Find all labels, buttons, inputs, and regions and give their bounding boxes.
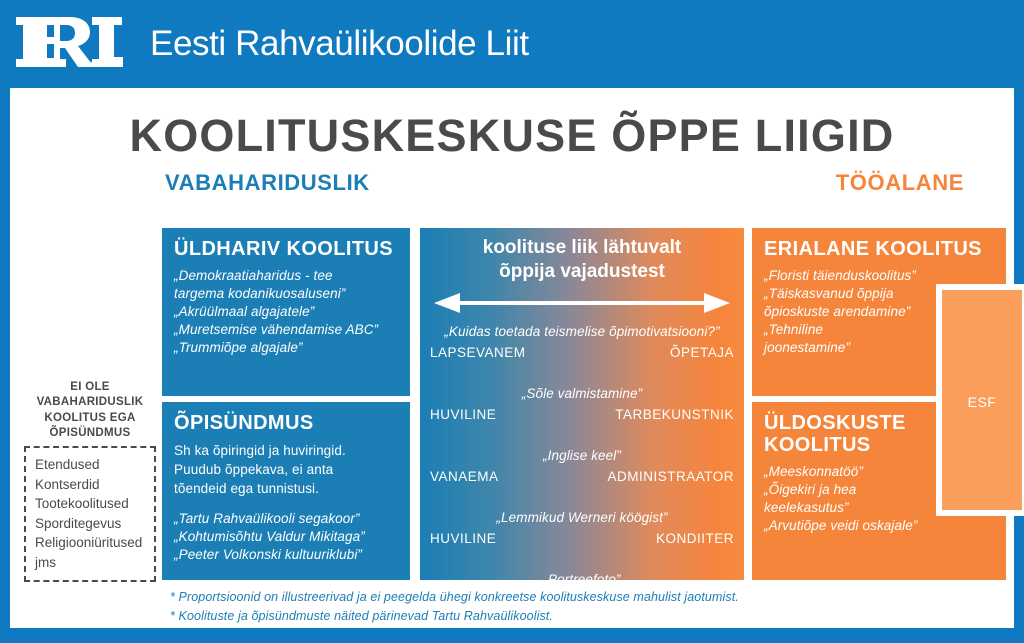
row-right-role: ADMINISTRAATOR — [607, 469, 734, 484]
page-header: Eesti Rahvaülikoolide Liit — [0, 0, 1024, 88]
subtitle-vabahariduslik: VABAHARIDUSLIK — [165, 170, 370, 196]
exclusions-list: Etendused Kontserdid Tootekoolitused Spo… — [24, 446, 156, 581]
card-intro-line: Puudub õppekava, ei anta — [174, 460, 398, 479]
card-line: „Floristi täienduskoolitus” — [764, 267, 994, 285]
row-left-role: LAPSEVANEM — [430, 345, 526, 360]
row-topic: „Kuidas toetada teismelise õpimotivatsio… — [420, 324, 744, 339]
center-row: „Inglise keel” VANAEMA ADMINISTRAATOR — [420, 448, 744, 510]
double-headed-arrow-icon — [434, 292, 730, 314]
exclusions-title-line-3: KOOLITUS EGA — [24, 411, 156, 426]
card-line: targema kodanikuosaluseni” — [174, 285, 398, 303]
card-intro-line: tõendeid ega tunnistusi. — [174, 479, 398, 498]
center-column-title: koolituse liik lähtuvalt õppija vajadust… — [420, 236, 744, 285]
card-opisundmus: ÕPISÜNDMUS Sh ka õpiringid ja huviringid… — [162, 402, 410, 580]
spacer — [174, 498, 398, 510]
exclusions-title-line-4: ÕPISÜNDMUS — [24, 426, 156, 441]
row-topic: „Inglise keel” — [420, 448, 744, 463]
card-line: „Tartu Rahvaülikooli segakoor” — [174, 510, 398, 528]
card-line: „Muretsemise vähendamise ABC” — [174, 321, 398, 339]
footnote: * Koolituste ja õpisündmuste näited päri… — [170, 607, 930, 626]
exclusions-title-line-1: EI OLE — [24, 380, 156, 395]
card-line: „Demokraatiaharidus - tee — [174, 267, 398, 285]
row-left-role: VANAEMA — [430, 469, 499, 484]
row-right-role: ÕPETAJA — [670, 345, 734, 360]
brand-title: Eesti Rahvaülikoolide Liit — [150, 24, 529, 64]
footnotes: * Proportsioonid on illustreerivad ja ei… — [170, 588, 930, 627]
exclusions-title: EI OLE VABAHARIDUSLIK KOOLITUS EGA ÕPISÜ… — [24, 380, 156, 441]
page-title: KOOLITUSKESKUSE ÕPPE LIIGID — [10, 110, 1014, 162]
right-column: ERIALANE KOOLITUS „Floristi täienduskool… — [752, 228, 1006, 580]
infographic-poster: Eesti Rahvaülikoolide Liit KOOLITUSKESKU… — [0, 0, 1024, 643]
card-uldhariv-koolitus: ÜLDHARIV KOOLITUS „Demokraatiaharidus - … — [162, 228, 410, 396]
left-column: ÜLDHARIV KOOLITUS „Demokraatiaharidus - … — [162, 228, 410, 580]
list-item: Tootekoolitused — [35, 494, 146, 514]
list-item: jms — [35, 553, 146, 573]
card-intro-line: Sh ka õpiringid ja huviringid. — [174, 441, 398, 460]
list-item: Etendused — [35, 455, 146, 475]
center-title-line-1: koolituse liik lähtuvalt — [420, 236, 744, 260]
center-rows: „Kuidas toetada teismelise õpimotivatsio… — [420, 324, 744, 580]
center-row: „Kuidas toetada teismelise õpimotivatsio… — [420, 324, 744, 386]
list-item: Sporditegevus — [35, 514, 146, 534]
card-line: „Arvutiõpe veidi oskajale” — [764, 517, 994, 535]
card-line: „Akrüülmaal algajatele” — [174, 303, 398, 321]
list-item: Kontserdid — [35, 475, 146, 495]
esf-overlay-box: ESF — [936, 284, 1024, 516]
row-right-role: KONDIITER — [656, 531, 734, 546]
card-title: ÕPISÜNDMUS — [174, 412, 398, 434]
list-item: Religiooniüritused — [35, 533, 146, 553]
row-topic: „Portreefoto” — [420, 572, 744, 587]
footnote: * Proportsioonid on illustreerivad ja ei… — [170, 588, 930, 607]
card-line: „Trummiõpe algajale” — [174, 339, 398, 357]
row-topic: „Sõle valmistamine” — [420, 386, 744, 401]
erl-monogram-logo — [14, 13, 132, 75]
row-topic: „Lemmikud Werneri köögist” — [420, 510, 744, 525]
center-title-line-2: õppija vajadustest — [420, 260, 744, 284]
row-left-role: HUVILINE — [430, 531, 496, 546]
exclusions-aside: EI OLE VABAHARIDUSLIK KOOLITUS EGA ÕPISÜ… — [24, 380, 156, 582]
subtitle-row: VABAHARIDUSLIK TÖÖALANE — [10, 170, 1014, 196]
row-right-role: TARBEKUNSTNIK — [615, 407, 734, 422]
subtitle-tooalane: TÖÖALANE — [836, 170, 964, 196]
card-line: „Peeter Volkonski kultuuriklubi” — [174, 546, 398, 564]
center-row: „Sõle valmistamine” HUVILINE TARBEKUNSTN… — [420, 386, 744, 448]
center-gradient-column: koolituse liik lähtuvalt õppija vajadust… — [420, 228, 744, 580]
card-title: ÜLDHARIV KOOLITUS — [174, 238, 398, 260]
row-left-role: HUVILINE — [430, 407, 496, 422]
card-line: „Kohtumisõhtu Valdur Mikitaga” — [174, 528, 398, 546]
card-title: ERIALANE KOOLITUS — [764, 238, 994, 260]
center-row: „Lemmikud Werneri köögist” HUVILINE KOND… — [420, 510, 744, 572]
poster-card: KOOLITUSKESKUSE ÕPPE LIIGID VABAHARIDUSL… — [10, 88, 1014, 628]
esf-label: ESF — [942, 394, 1022, 410]
exclusions-title-line-2: VABAHARIDUSLIK — [24, 395, 156, 410]
columns-area: ÜLDHARIV KOOLITUS „Demokraatiaharidus - … — [10, 228, 1014, 580]
